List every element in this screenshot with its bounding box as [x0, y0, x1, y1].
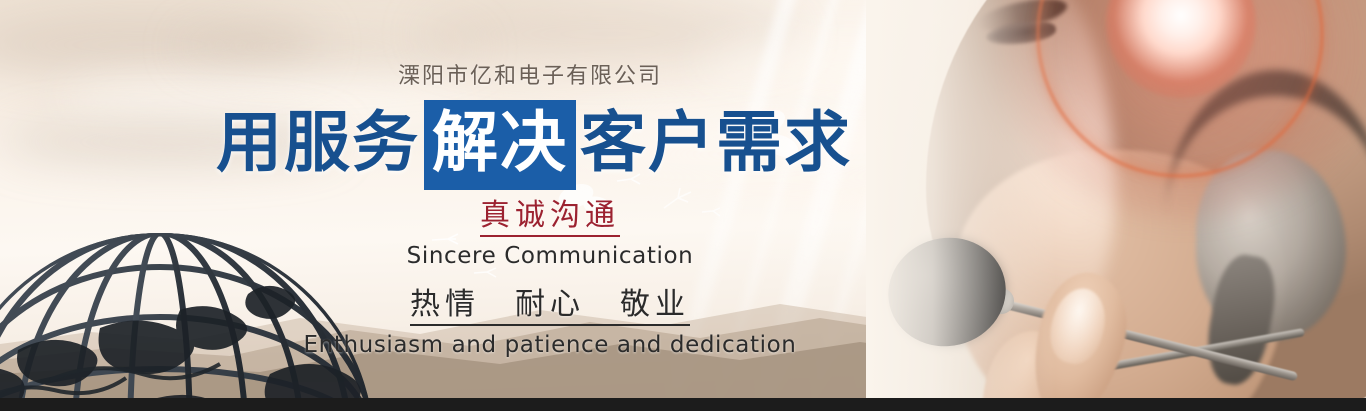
slogan-row-1: 真诚沟通: [0, 198, 1100, 237]
headline-before: 用服务: [216, 104, 420, 181]
slogan-en-sincere: Sincere Communication: [0, 241, 1100, 271]
banner-copy: 溧阳市亿和电子有限公司 用服务解决客户需求 真诚沟通 Sincere Commu…: [0, 0, 1366, 411]
headline-highlight: 解决: [424, 100, 576, 190]
headline-after: 客户需求: [580, 104, 852, 181]
slogan-cn-enthusiasm: 热情 耐心 敬业: [410, 287, 690, 326]
slogan-block: 真诚沟通 Sincere Communication 热情 耐心 敬业 Enth…: [0, 198, 1100, 360]
slogan-row-2: 热情 耐心 敬业: [0, 271, 1100, 326]
bottom-bar: [0, 398, 1366, 411]
slogan-cn-sincere: 真诚沟通: [480, 198, 620, 237]
headline: 用服务解决客户需求: [0, 100, 1068, 190]
promo-banner: 溧阳市亿和电子有限公司 用服务解决客户需求 真诚沟通 Sincere Commu…: [0, 0, 1366, 411]
slogan-en-enthusiasm: Enthusiasm and patience and dedication: [0, 330, 1100, 360]
company-name: 溧阳市亿和电子有限公司: [0, 58, 1060, 90]
